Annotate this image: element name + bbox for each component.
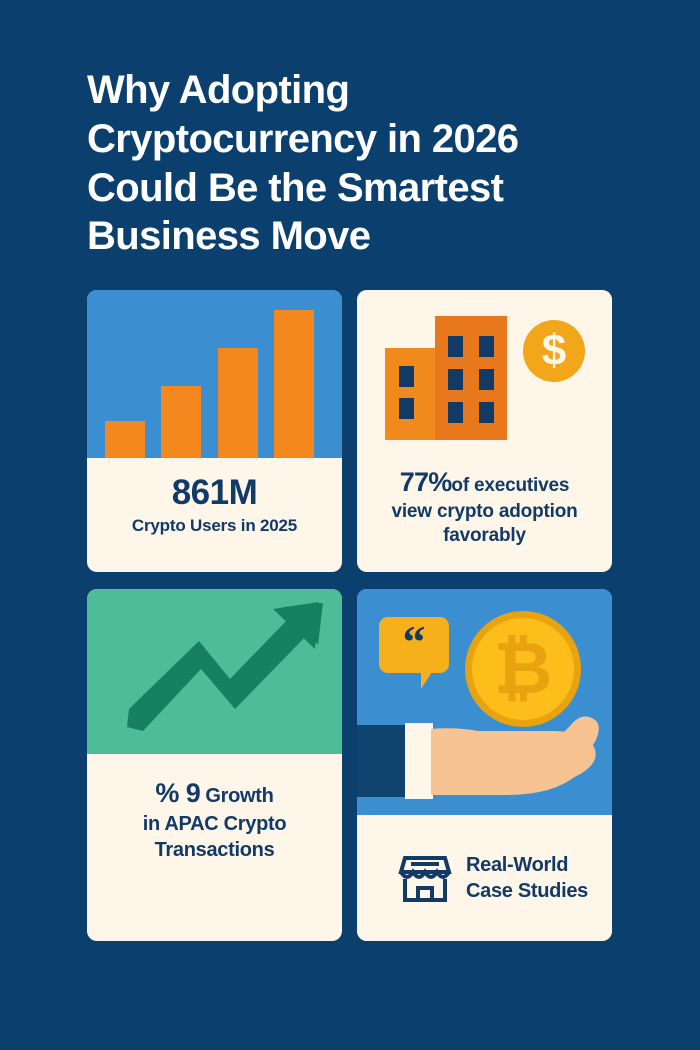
bar-1 [105, 421, 145, 458]
bar-2 [161, 386, 201, 458]
case-title-line-2: Case Studies [466, 878, 588, 904]
upward-trend-arrow-icon [87, 589, 342, 754]
office-building-small-icon [385, 348, 437, 440]
quote-symbol: “ [379, 617, 449, 673]
window [448, 336, 463, 357]
office-building-large-icon [435, 316, 507, 440]
window [479, 369, 494, 390]
card-3-caption: % 9 Growth in APAC Crypto Transactions [87, 754, 342, 863]
card-executive-sentiment[interactable]: $ 77%of executives view crypto adoption … [357, 290, 612, 572]
stat-value: 77% [400, 467, 452, 497]
growth-description-1: in APAC Crypto [95, 811, 334, 837]
stat-description-2: view crypto adoption [391, 501, 577, 522]
bitcoin-coin-face: ₿ [472, 618, 574, 720]
stat-description: Crypto Users in 2025 [87, 515, 342, 537]
window [448, 402, 463, 423]
title-line-2: Cryptocurrency in 2026 [87, 115, 607, 164]
card-case-studies[interactable]: “ ₿ Real-World Case St [357, 589, 612, 941]
dollar-coin-icon: $ [523, 320, 585, 382]
bar-chart-visual [87, 290, 342, 458]
growth-arrow-visual [87, 589, 342, 754]
window [448, 369, 463, 390]
stat-suffix: Growth [200, 785, 273, 807]
office-buildings-visual: $ [357, 290, 612, 465]
bitcoin-coin-icon: ₿ [465, 611, 581, 727]
growth-description-2: Transactions [95, 837, 334, 863]
hand-holding-bitcoin-visual: “ ₿ [357, 589, 612, 815]
card-crypto-users[interactable]: 861M Crypto Users in 2025 [87, 290, 342, 572]
card-4-caption: Real-World Case Studies [357, 815, 612, 941]
stat-description-1: of executives [451, 475, 569, 496]
card-apac-growth[interactable]: % 9 Growth in APAC Crypto Transactions [87, 589, 342, 941]
title-line-4: Business Move [87, 212, 607, 261]
card-1-caption: 861M Crypto Users in 2025 [87, 458, 342, 537]
stat-text: 77%of executives view crypto adoption fa… [367, 465, 602, 548]
window [479, 336, 494, 357]
stat-description-3: favorably [443, 525, 526, 546]
title-line-1: Why Adopting [87, 66, 607, 115]
window [399, 398, 414, 419]
title-line-3: Could Be the Smartest [87, 164, 607, 213]
infographic-page: Why Adopting Cryptocurrency in 2026 Coul… [0, 0, 700, 1050]
window [479, 402, 494, 423]
case-title-line-1: Real-World [466, 852, 588, 878]
window [399, 366, 414, 387]
growth-headline: % 9 Growth [95, 776, 334, 811]
dollar-symbol: $ [523, 320, 585, 382]
bitcoin-symbol: ₿ [494, 633, 553, 705]
storefront-icon [397, 852, 453, 904]
page-title: Why Adopting Cryptocurrency in 2026 Coul… [87, 66, 607, 261]
quote-bubble-icon: “ [379, 617, 449, 673]
bar-3 [218, 348, 258, 458]
case-studies-title: Real-World Case Studies [466, 852, 588, 905]
stat-value: % 9 [155, 778, 200, 808]
bar-4 [274, 310, 314, 458]
stat-value: 861M [87, 474, 342, 511]
card-2-caption: 77%of executives view crypto adoption fa… [357, 465, 612, 548]
